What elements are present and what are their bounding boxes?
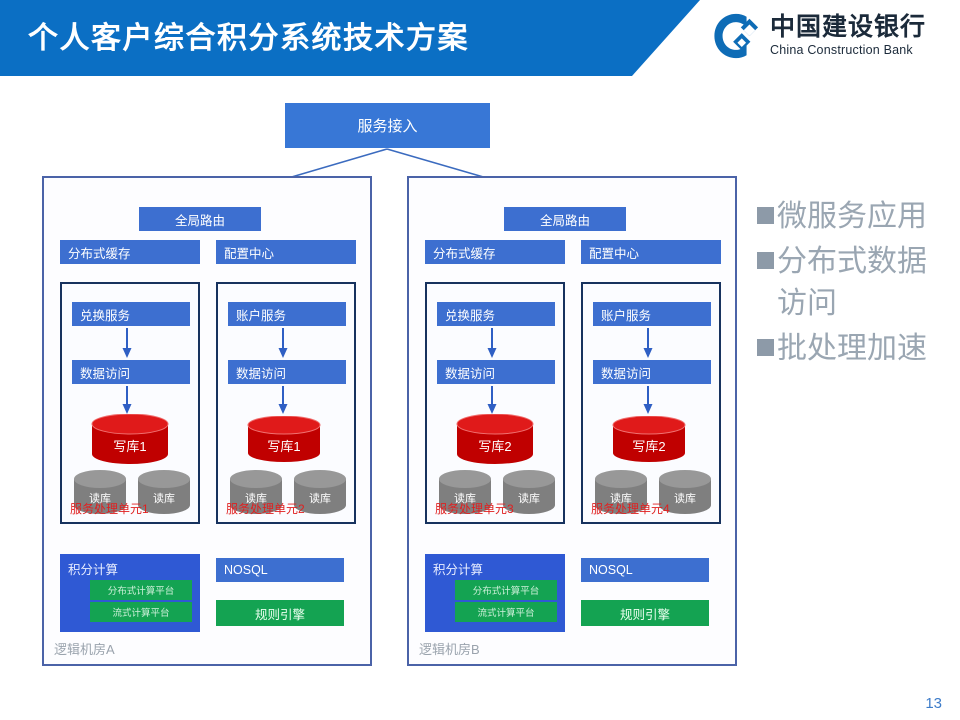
arrow-data-to-db-1 <box>120 386 134 416</box>
service-unit-3-label: 服务处理单元3 <box>435 500 514 517</box>
arrow-service-to-data-4 <box>641 328 655 360</box>
page-number: 13 <box>925 695 942 712</box>
rule-engine-a[interactable]: 规则引擎 <box>216 600 344 626</box>
write-db-1 <box>90 414 170 464</box>
distributed-cache-a[interactable]: 分布式缓存 <box>60 240 200 264</box>
score-calc-b: 积分计算 分布式计算平台 流式计算平台 <box>425 554 565 632</box>
feature-bullet-list: 微服务应用 分布式数据访问 批处理加速 <box>757 196 952 372</box>
service-access-box[interactable]: 服务接入 <box>285 103 490 148</box>
service-unit-2: 账户服务 数据访问 写库1 读库 <box>216 282 356 524</box>
write-db-2-label: 写库1 <box>246 416 322 455</box>
score-calc-b-title: 积分计算 <box>433 559 483 578</box>
service-unit-2-label: 服务处理单元2 <box>226 500 305 517</box>
logo-cn-name: 中国建设银行 <box>770 15 926 40</box>
nosql-b[interactable]: NOSQL <box>581 558 709 582</box>
rule-engine-b[interactable]: 规则引擎 <box>581 600 709 626</box>
data-access-1[interactable]: 数据访问 <box>72 360 190 384</box>
distributed-cache-b[interactable]: 分布式缓存 <box>425 240 565 264</box>
score-calc-a-title: 积分计算 <box>68 559 118 578</box>
arrow-data-to-db-2 <box>276 386 290 416</box>
data-center-b-label: 逻辑机房B <box>419 639 480 658</box>
bullet-square-icon <box>757 252 774 269</box>
score-calc-a: 积分计算 分布式计算平台 流式计算平台 <box>60 554 200 632</box>
bullet-item-batch-acceleration: 批处理加速 <box>757 328 952 371</box>
distributed-compute-platform-a[interactable]: 分布式计算平台 <box>90 580 192 600</box>
page-title: 个人客户综合积分系统技术方案 <box>28 13 469 57</box>
exchange-service-3[interactable]: 兑换服务 <box>437 302 555 326</box>
write-db-4-label: 写库2 <box>611 416 687 455</box>
service-unit-1: 兑换服务 数据访问 写库1 读库 <box>60 282 200 524</box>
account-service-2[interactable]: 账户服务 <box>228 302 346 326</box>
data-center-a: 逻辑机房A 全局路由 分布式缓存 配置中心 兑换服务 数据访问 写库1 <box>42 176 372 666</box>
bullet-text-distributed-data-access: 分布式数据访问 <box>777 241 952 326</box>
service-unit-4: 账户服务 数据访问 写库2 读库 <box>581 282 721 524</box>
bullet-item-distributed-data-access: 分布式数据访问 <box>757 241 952 326</box>
data-center-b: 逻辑机房B 全局路由 分布式缓存 配置中心 兑换服务 数据访问 写库2 <box>407 176 737 666</box>
ccb-logo-icon <box>712 12 760 60</box>
stream-compute-platform-a[interactable]: 流式计算平台 <box>90 602 192 622</box>
bullet-text-microservice: 微服务应用 <box>777 196 927 239</box>
arrow-service-to-data-2 <box>276 328 290 360</box>
arrow-data-to-db-4 <box>641 386 655 416</box>
arrow-service-to-data-1 <box>120 328 134 360</box>
distributed-compute-platform-b[interactable]: 分布式计算平台 <box>455 580 557 600</box>
nosql-a[interactable]: NOSQL <box>216 558 344 582</box>
slide-canvas: 个人客户综合积分系统技术方案 中国建设银行 China Construction… <box>0 0 960 720</box>
global-route-b[interactable]: 全局路由 <box>504 207 626 231</box>
logo-text: 中国建设银行 China Construction Bank <box>770 15 926 57</box>
stream-compute-platform-b[interactable]: 流式计算平台 <box>455 602 557 622</box>
service-unit-1-label: 服务处理单元1 <box>70 500 149 517</box>
global-route-a[interactable]: 全局路由 <box>139 207 261 231</box>
config-center-b[interactable]: 配置中心 <box>581 240 721 264</box>
service-unit-3: 兑换服务 数据访问 写库2 读库 <box>425 282 565 524</box>
exchange-service-1[interactable]: 兑换服务 <box>72 302 190 326</box>
bullet-square-icon <box>757 339 774 356</box>
service-unit-4-label: 服务处理单元4 <box>591 500 670 517</box>
config-center-a[interactable]: 配置中心 <box>216 240 356 264</box>
account-service-4[interactable]: 账户服务 <box>593 302 711 326</box>
data-access-2[interactable]: 数据访问 <box>228 360 346 384</box>
data-center-a-label: 逻辑机房A <box>54 639 115 658</box>
write-db-3-label: 写库2 <box>455 414 535 455</box>
arrow-service-to-data-3 <box>485 328 499 360</box>
arrow-data-to-db-3 <box>485 386 499 416</box>
bullet-text-batch-acceleration: 批处理加速 <box>777 328 927 371</box>
ccb-logo: 中国建设银行 China Construction Bank <box>712 12 926 60</box>
data-access-3[interactable]: 数据访问 <box>437 360 555 384</box>
bullet-square-icon <box>757 207 774 224</box>
bullet-item-microservice: 微服务应用 <box>757 196 952 239</box>
logo-en-name: China Construction Bank <box>770 44 926 57</box>
data-access-4[interactable]: 数据访问 <box>593 360 711 384</box>
